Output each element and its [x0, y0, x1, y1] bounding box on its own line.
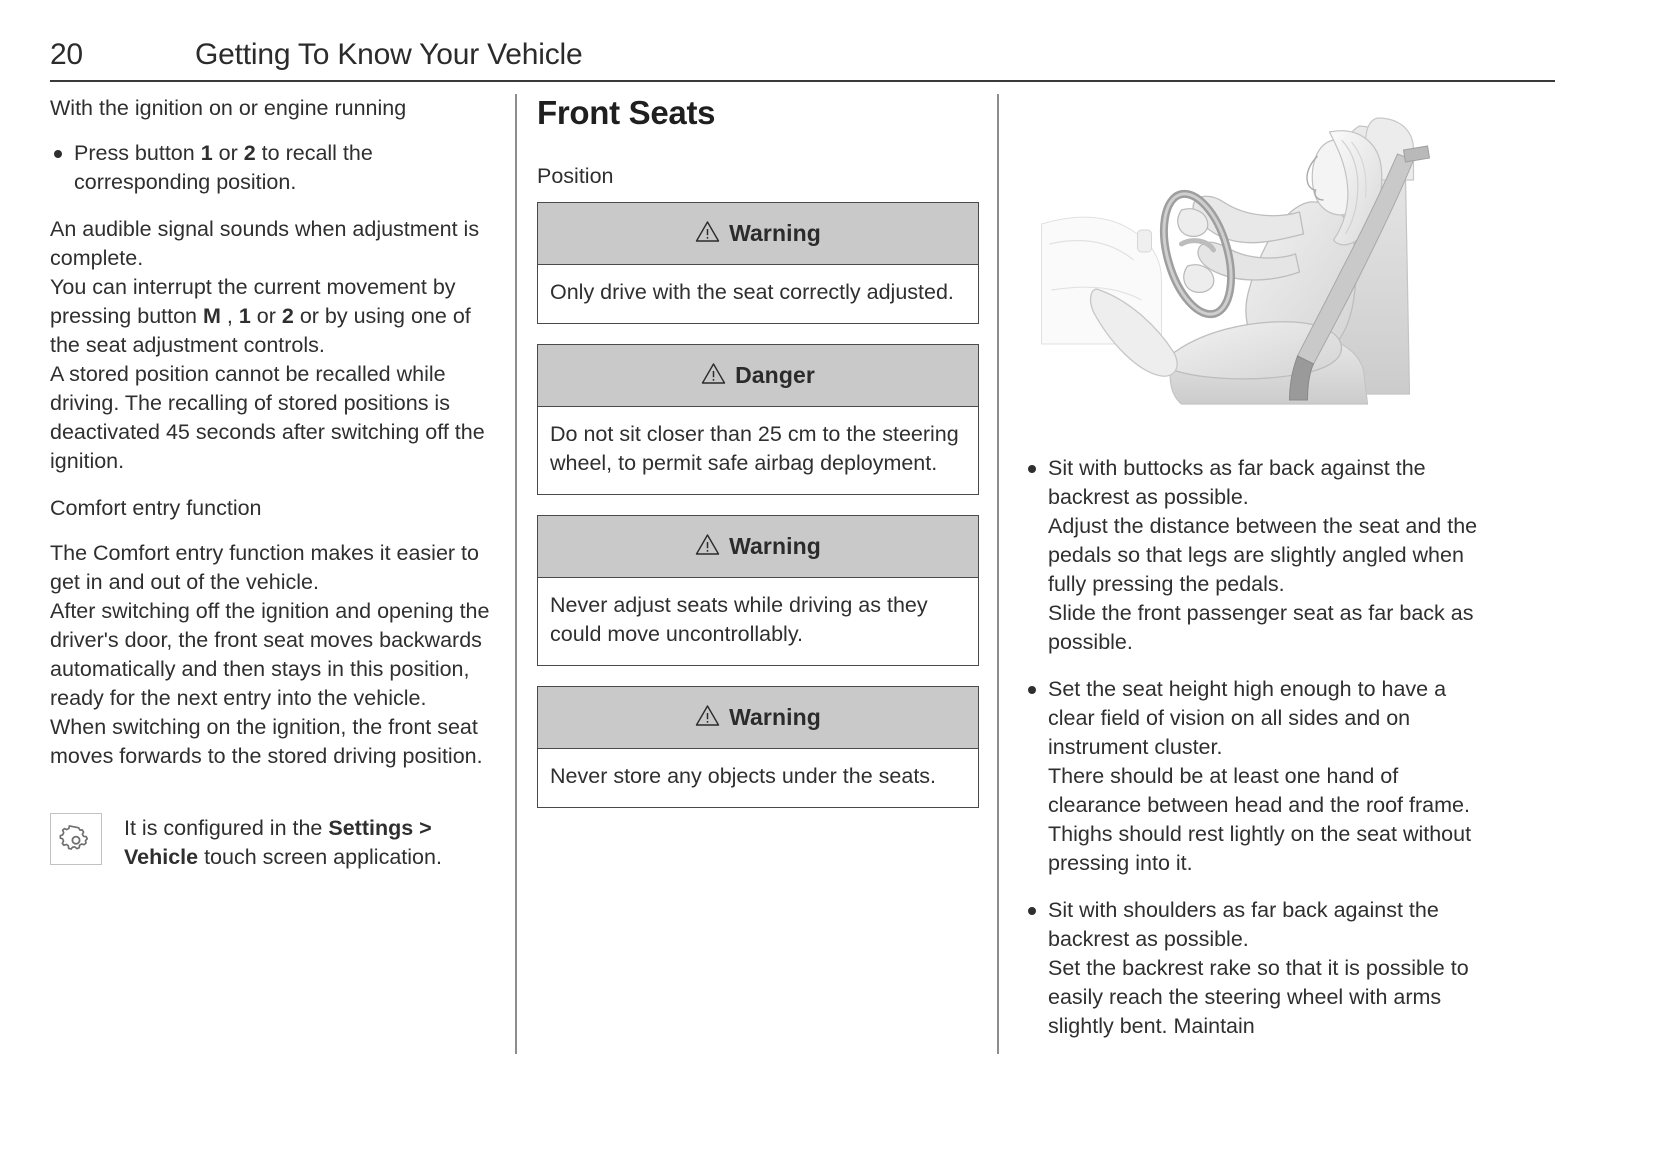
- column-left: With the ignition on or engine running P…: [50, 94, 515, 1054]
- alert-header: Danger: [538, 345, 978, 407]
- page-number: 20: [50, 38, 195, 72]
- page-header: 20 Getting To Know Your Vehicle: [50, 38, 1555, 82]
- alert-body: Never store any objects under the seats.: [538, 749, 978, 807]
- page-title: Getting To Know Your Vehicle: [195, 38, 582, 72]
- paragraph-interrupt-movement: You can interrupt the current movement b…: [50, 273, 495, 360]
- list-item: Sit with shoulders as far back against t…: [1024, 896, 1479, 1041]
- column-right: Sit with buttocks as far back against th…: [999, 94, 1479, 1054]
- button-label-1b: 1: [239, 304, 251, 328]
- paragraph-comfort-entry-intro: The Comfort entry function makes it easi…: [50, 539, 495, 597]
- manual-page: 20 Getting To Know Your Vehicle With the…: [0, 0, 1653, 1165]
- list-item: Sit with buttocks as far back against th…: [1024, 454, 1479, 657]
- alert-label: Danger: [735, 362, 815, 389]
- alert-label: Warning: [729, 704, 821, 731]
- button-label-m: M: [203, 304, 221, 328]
- alert-box-warning-3: Warning Never store any objects under th…: [537, 686, 979, 808]
- para2-mid2: or: [251, 304, 282, 328]
- settings-note: It is configured in the Settings > Vehic…: [50, 813, 495, 872]
- section-title-front-seats: Front Seats: [537, 94, 979, 132]
- button-label-2: 2: [244, 141, 256, 165]
- column-middle: Front Seats Position Warning Only drive …: [517, 94, 997, 1054]
- warning-triangle-icon: [695, 220, 720, 248]
- alert-header: Warning: [538, 203, 978, 265]
- left-subheading-ignition: With the ignition on or engine running: [50, 94, 495, 123]
- note-pre: It is configured in the: [124, 816, 328, 840]
- note-post: touch screen application.: [198, 845, 442, 869]
- left-subheading-comfort-entry: Comfort entry function: [50, 494, 495, 523]
- note-settings-path: Settings >: [328, 816, 431, 840]
- alert-box-warning-2: Warning Never adjust seats while driving…: [537, 515, 979, 666]
- driver-seated-position-illustration: [1024, 94, 1479, 424]
- paragraph-comfort-entry-backwards: After switching off the ignition and ope…: [50, 597, 495, 713]
- alert-box-danger: Danger Do not sit closer than 25 cm to t…: [537, 344, 979, 495]
- paragraph-stored-position: A stored position cannot be recalled whi…: [50, 360, 495, 476]
- button-label-1: 1: [201, 141, 213, 165]
- content-columns: With the ignition on or engine running P…: [50, 94, 1555, 1054]
- paragraph-comfort-entry-forwards: When switching on the ignition, the fron…: [50, 713, 495, 771]
- alert-body: Only drive with the seat correctly adjus…: [538, 265, 978, 323]
- right-bullet-list: Sit with buttocks as far back against th…: [1024, 454, 1479, 1041]
- warning-triangle-icon: [695, 704, 720, 732]
- warning-triangle-icon: [701, 362, 726, 390]
- section-subheading-position: Position: [537, 162, 979, 190]
- list-item: Set the seat height high enough to have …: [1024, 675, 1479, 878]
- note-vehicle-path: Vehicle: [124, 845, 198, 869]
- left-bullet-list: Press button 1 or 2 to recall the corres…: [50, 139, 495, 197]
- settings-note-text: It is configured in the Settings > Vehic…: [124, 813, 495, 872]
- bullet-text-pre: Press button: [74, 141, 201, 165]
- paragraph-audible-signal: An audible signal sounds when adjustment…: [50, 215, 495, 273]
- alert-body: Never adjust seats while driving as they…: [538, 578, 978, 665]
- alert-header: Warning: [538, 687, 978, 749]
- alert-body: Do not sit closer than 25 cm to the stee…: [538, 407, 978, 494]
- gear-icon: [50, 813, 102, 865]
- alert-label: Warning: [729, 533, 821, 560]
- warning-triangle-icon: [695, 533, 720, 561]
- alert-header: Warning: [538, 516, 978, 578]
- alert-box-warning-1: Warning Only drive with the seat correct…: [537, 202, 979, 324]
- button-label-2b: 2: [282, 304, 294, 328]
- para2-mid1: ,: [221, 304, 239, 328]
- bullet-text-mid: or: [213, 141, 244, 165]
- alert-label: Warning: [729, 220, 821, 247]
- list-item: Press button 1 or 2 to recall the corres…: [50, 139, 495, 197]
